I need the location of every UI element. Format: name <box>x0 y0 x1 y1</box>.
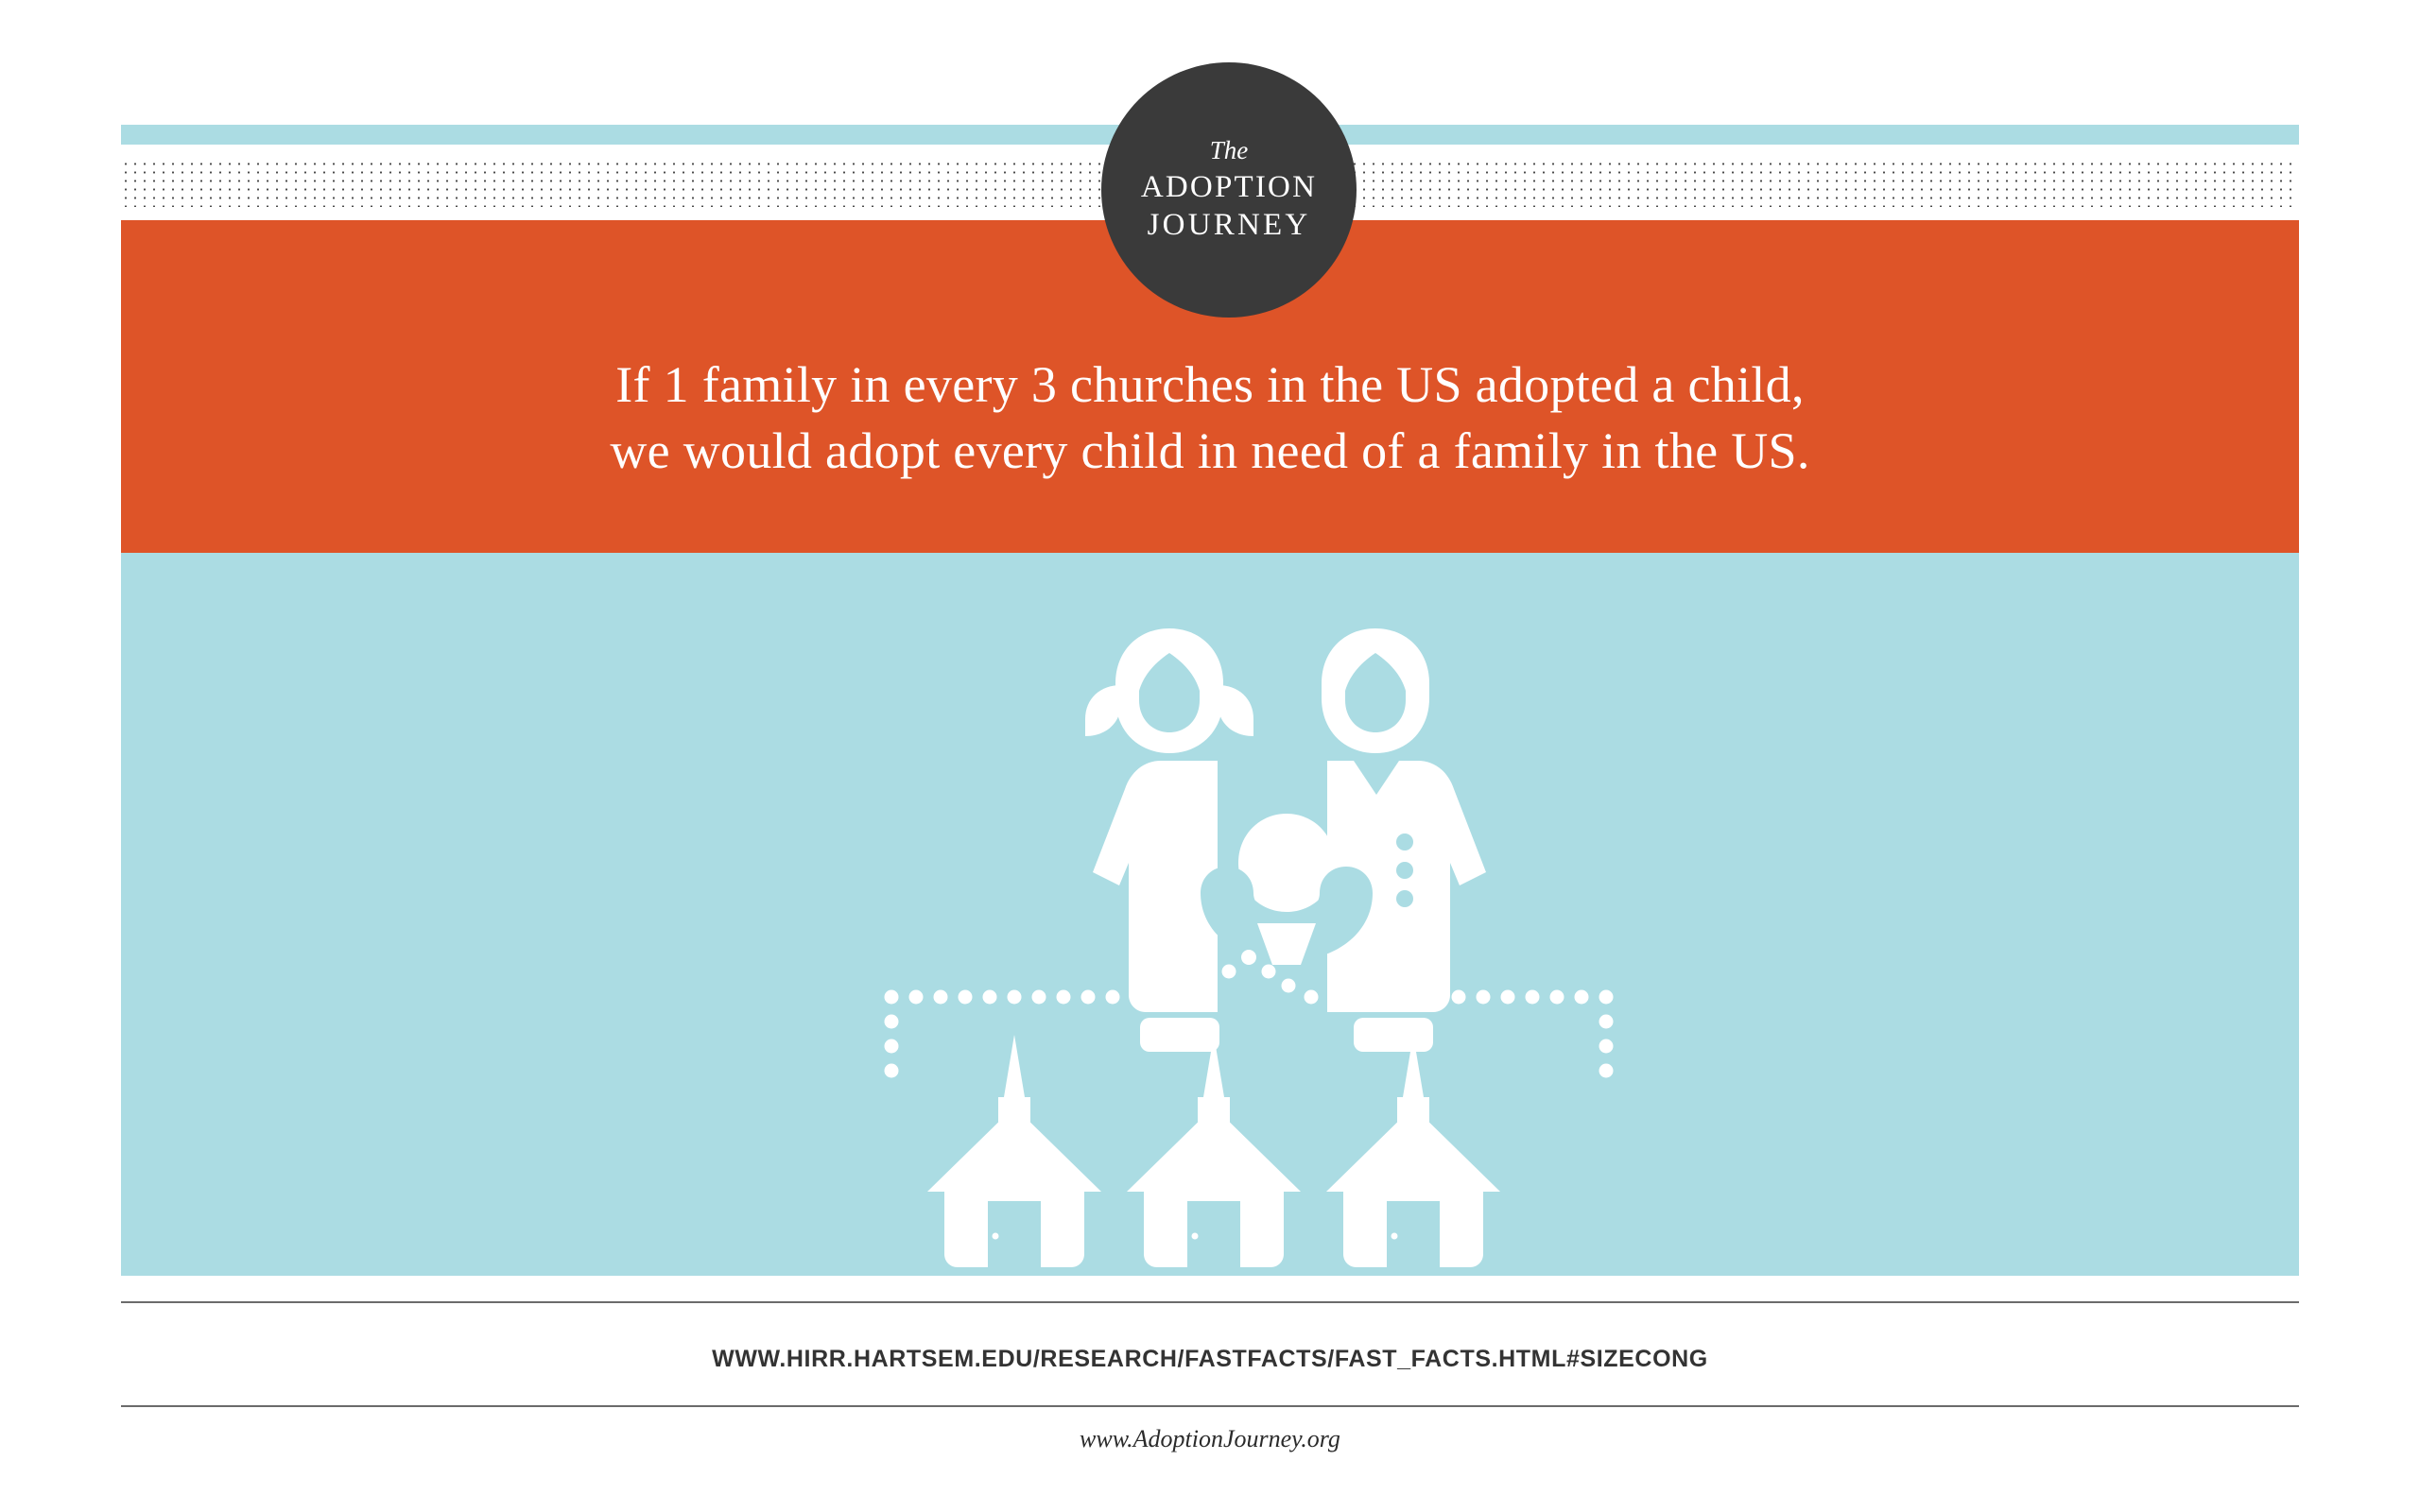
site-url-text[interactable]: www.AdoptionJourney.org <box>121 1425 2299 1453</box>
footer-divider-bottom <box>121 1405 2299 1407</box>
headline-text: If 1 family in every 3 churches in the U… <box>121 352 2299 484</box>
footer-divider-top <box>121 1301 2299 1303</box>
logo-adoption-text: ADOPTION <box>1141 168 1317 206</box>
logo-journey-text: JOURNEY <box>1148 206 1311 244</box>
illustration-graphics <box>121 553 2299 1276</box>
church-icon <box>927 1035 1101 1267</box>
headline-line-2: we would adopt every child in need of a … <box>121 418 2299 484</box>
source-url-text[interactable]: WWW.HIRR.HARTSEM.EDU/RESEARCH/FASTFACTS/… <box>121 1346 2299 1373</box>
logo-the-text: The <box>1210 136 1249 164</box>
dotted-bracket-icon <box>885 950 1614 1078</box>
church-icon <box>1127 1035 1301 1267</box>
headline-line-1: If 1 family in every 3 churches in the U… <box>121 352 2299 418</box>
logo-badge[interactable]: The ADOPTION JOURNEY <box>1101 62 1357 318</box>
church-icon <box>1326 1035 1500 1267</box>
